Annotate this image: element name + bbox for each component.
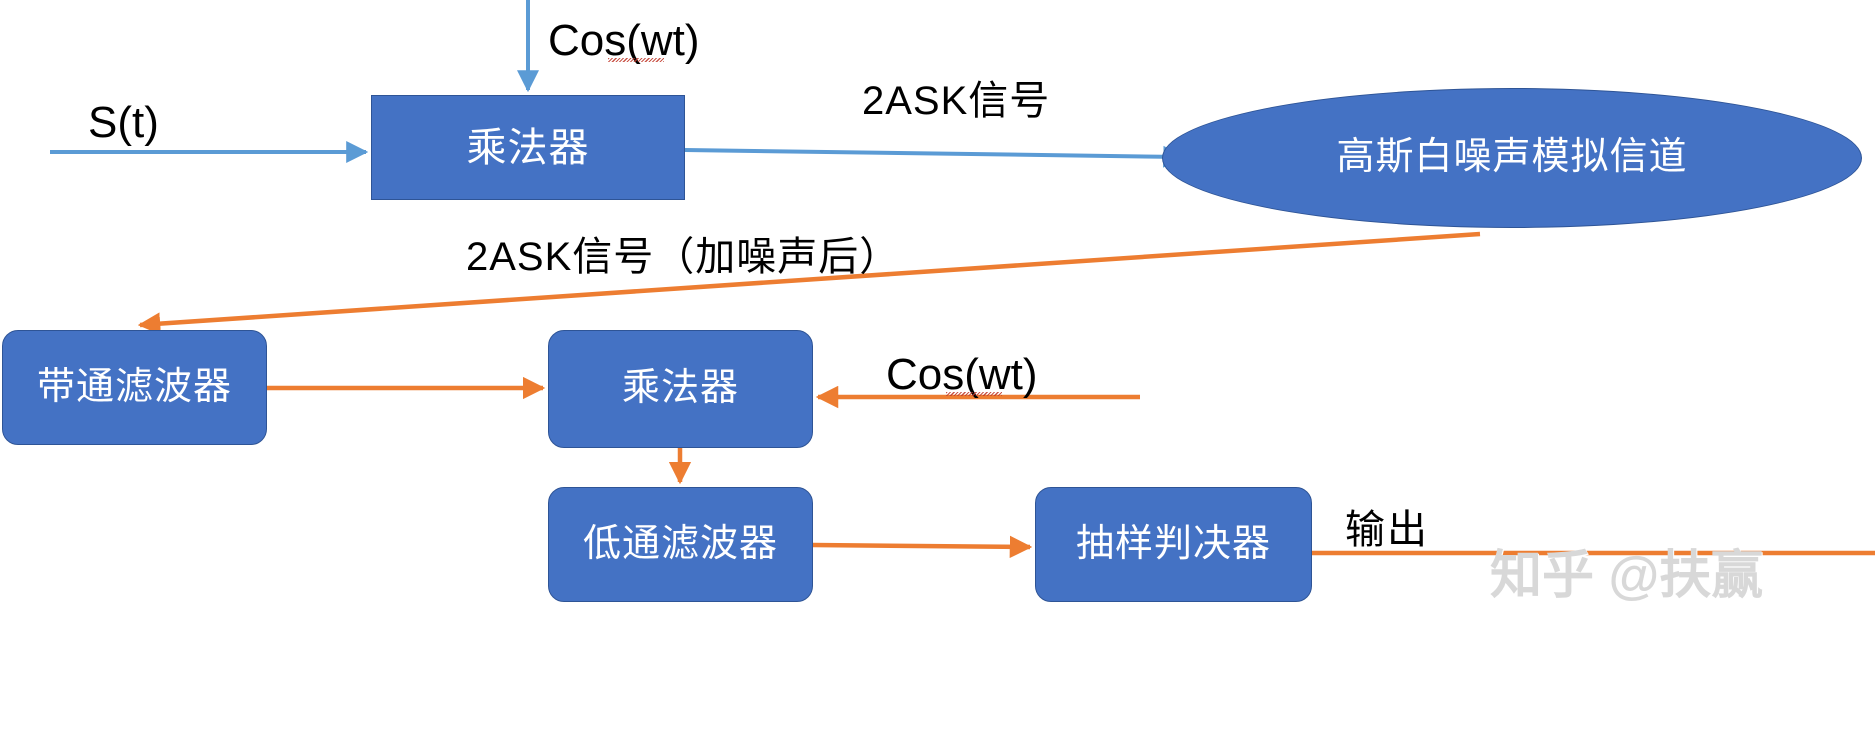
- diagram-canvas: 乘法器 高斯白噪声模拟信道 带通滤波器 乘法器 低通滤波器 抽样判决器 Cos(…: [0, 0, 1875, 750]
- node-label-sampling-decider: 抽样判决器: [1076, 524, 1271, 566]
- watermark-zhihu: 知乎 @扶赢: [1490, 533, 1763, 608]
- node-sampling-decider[interactable]: 抽样判决器: [1035, 487, 1312, 602]
- wire-multiplier-to-channel: [685, 150, 1183, 157]
- node-multiplier-rx[interactable]: 乘法器: [548, 330, 813, 448]
- node-label-bandpass-filter: 带通滤波器: [37, 367, 232, 409]
- label-text-ask-signal-noisy: 2ASK信号（加噪声后）: [466, 235, 900, 279]
- node-label-multiplier-rx: 乘法器: [622, 368, 739, 410]
- spell-underline-cos-wt-top: [608, 58, 664, 62]
- node-lowpass-filter[interactable]: 低通滤波器: [548, 487, 813, 602]
- label-ask-signal: 2ASK信号: [862, 68, 1050, 126]
- node-awgn-channel[interactable]: 高斯白噪声模拟信道: [1162, 88, 1862, 228]
- label-output: 输出: [1345, 497, 1429, 555]
- spell-underline-cos-wt-rx: [946, 392, 1002, 396]
- node-multiplier-tx[interactable]: 乘法器: [371, 95, 685, 200]
- label-text-ask-signal: 2ASK信号: [862, 79, 1050, 123]
- label-text-s-t: S(t): [88, 98, 159, 147]
- node-bandpass-filter[interactable]: 带通滤波器: [2, 330, 267, 445]
- node-label-lowpass-filter: 低通滤波器: [583, 524, 778, 566]
- watermark-text: 知乎 @扶赢: [1490, 547, 1763, 605]
- label-ask-signal-noisy: 2ASK信号（加噪声后）: [466, 224, 900, 282]
- node-label-awgn-channel: 高斯白噪声模拟信道: [1336, 137, 1687, 179]
- node-label-multiplier-tx: 乘法器: [467, 126, 590, 170]
- wire-lowpass-to-sampler: [813, 545, 1030, 547]
- label-s-t: S(t): [88, 98, 159, 148]
- label-text-output: 输出: [1345, 508, 1429, 552]
